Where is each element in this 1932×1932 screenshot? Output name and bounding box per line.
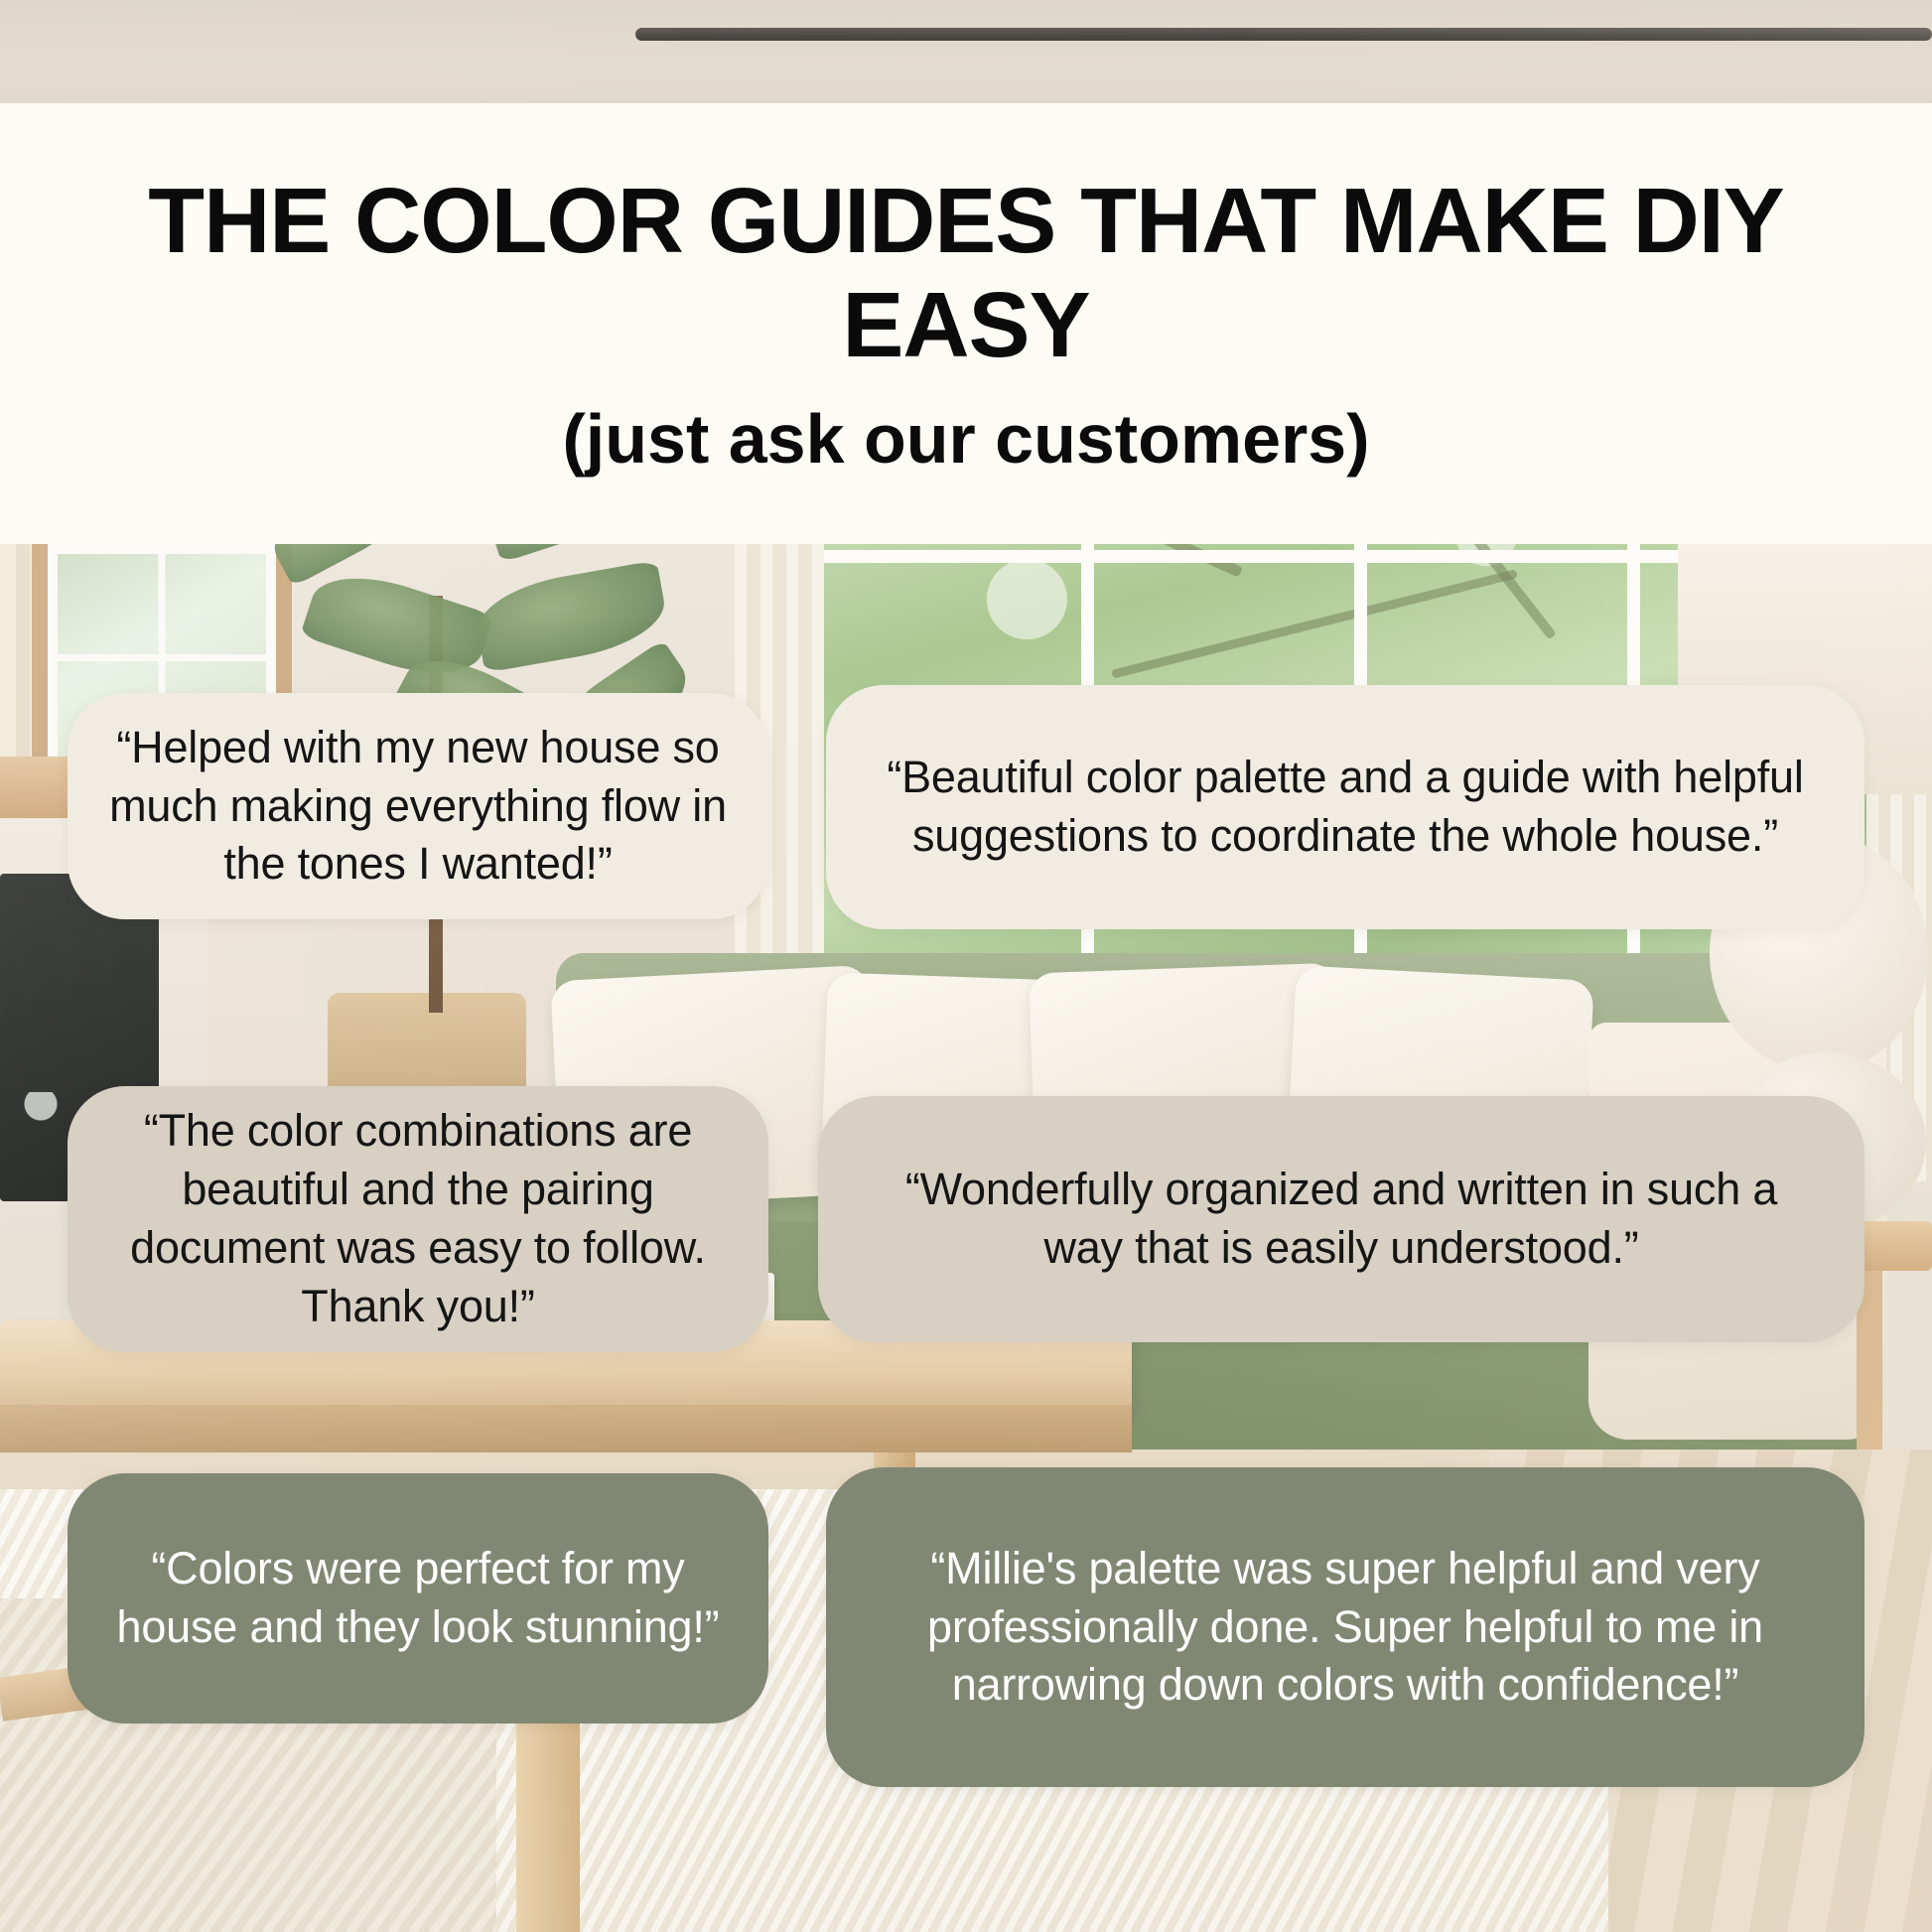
testimonial-quote: “Beautiful color palette and a guide wit… (868, 749, 1823, 866)
testimonial-quote: “Millie's palette was super helpful and … (868, 1540, 1823, 1716)
testimonial-quote: “Wonderfully organized and written in su… (860, 1161, 1823, 1278)
testimonial-card-6: “Millie's palette was super helpful and … (826, 1467, 1864, 1787)
fireplace-tools (18, 1092, 64, 1211)
coffee-table-edge (0, 1405, 1132, 1452)
testimonial-quote: “The color combinations are beautiful an… (109, 1102, 727, 1336)
curtain-rod (635, 28, 1932, 41)
page-subtitle: (just ask our customers) (563, 399, 1370, 480)
ceiling (0, 0, 1932, 103)
header-band: THE COLOR GUIDES THAT MAKE DIY EASY (jus… (0, 103, 1932, 544)
testimonial-card-2: “Beautiful color palette and a guide wit… (826, 685, 1864, 929)
testimonial-card-5: “Colors were perfect for my house and th… (68, 1473, 768, 1724)
testimonial-card-1: “Helped with my new house so much making… (68, 693, 768, 919)
testimonial-card-4: “Wonderfully organized and written in su… (818, 1096, 1864, 1342)
testimonial-card-3: “The color combinations are beautiful an… (68, 1086, 768, 1352)
testimonial-quote: “Helped with my new house so much making… (109, 719, 727, 895)
page-title: THE COLOR GUIDES THAT MAKE DIY EASY (122, 169, 1810, 377)
testimonial-quote: “Colors were perfect for my house and th… (109, 1540, 727, 1657)
